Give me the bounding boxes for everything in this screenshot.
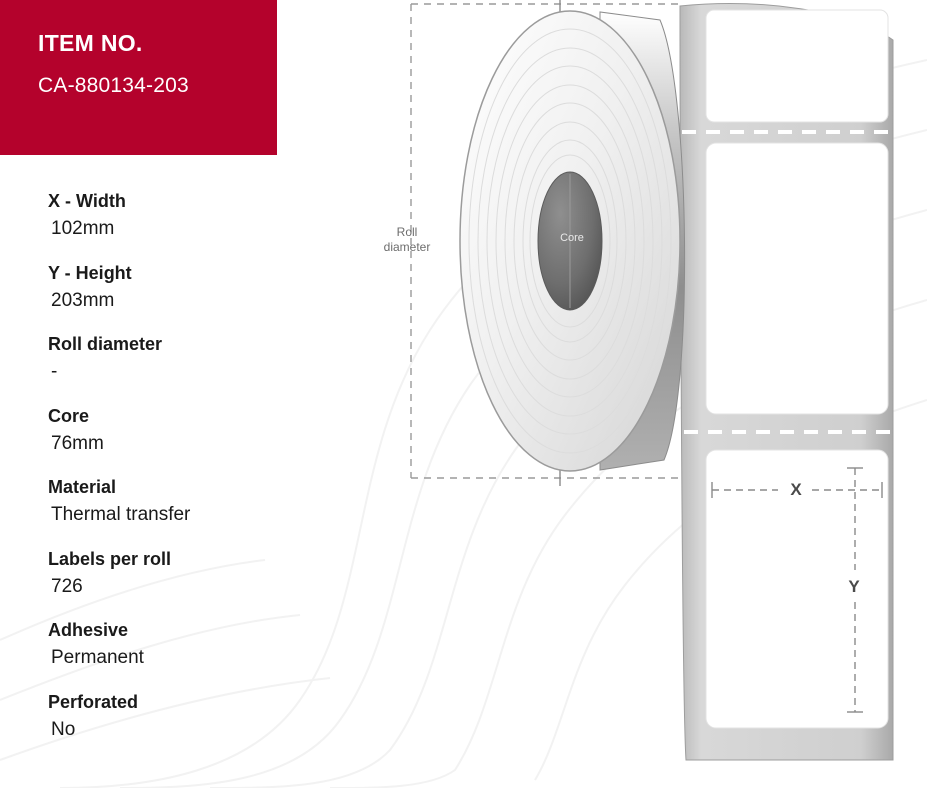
height-dimension-label: Y [838,577,870,597]
label-web-strip [680,4,893,760]
roll-diameter-label-line2: diameter [372,240,442,255]
label-face-top [706,10,888,122]
roll-diameter-label-line1: Roll [372,225,442,240]
label-face-middle [706,143,888,414]
roll-diameter-dimension-label: Roll diameter [372,225,442,255]
core-label: Core [545,232,599,244]
label-roll-illustration [0,0,927,788]
width-dimension-label: X [780,480,812,500]
label-spec-sheet: ITEM NO. CA-880134-203 X - Width 102mm Y… [0,0,927,788]
